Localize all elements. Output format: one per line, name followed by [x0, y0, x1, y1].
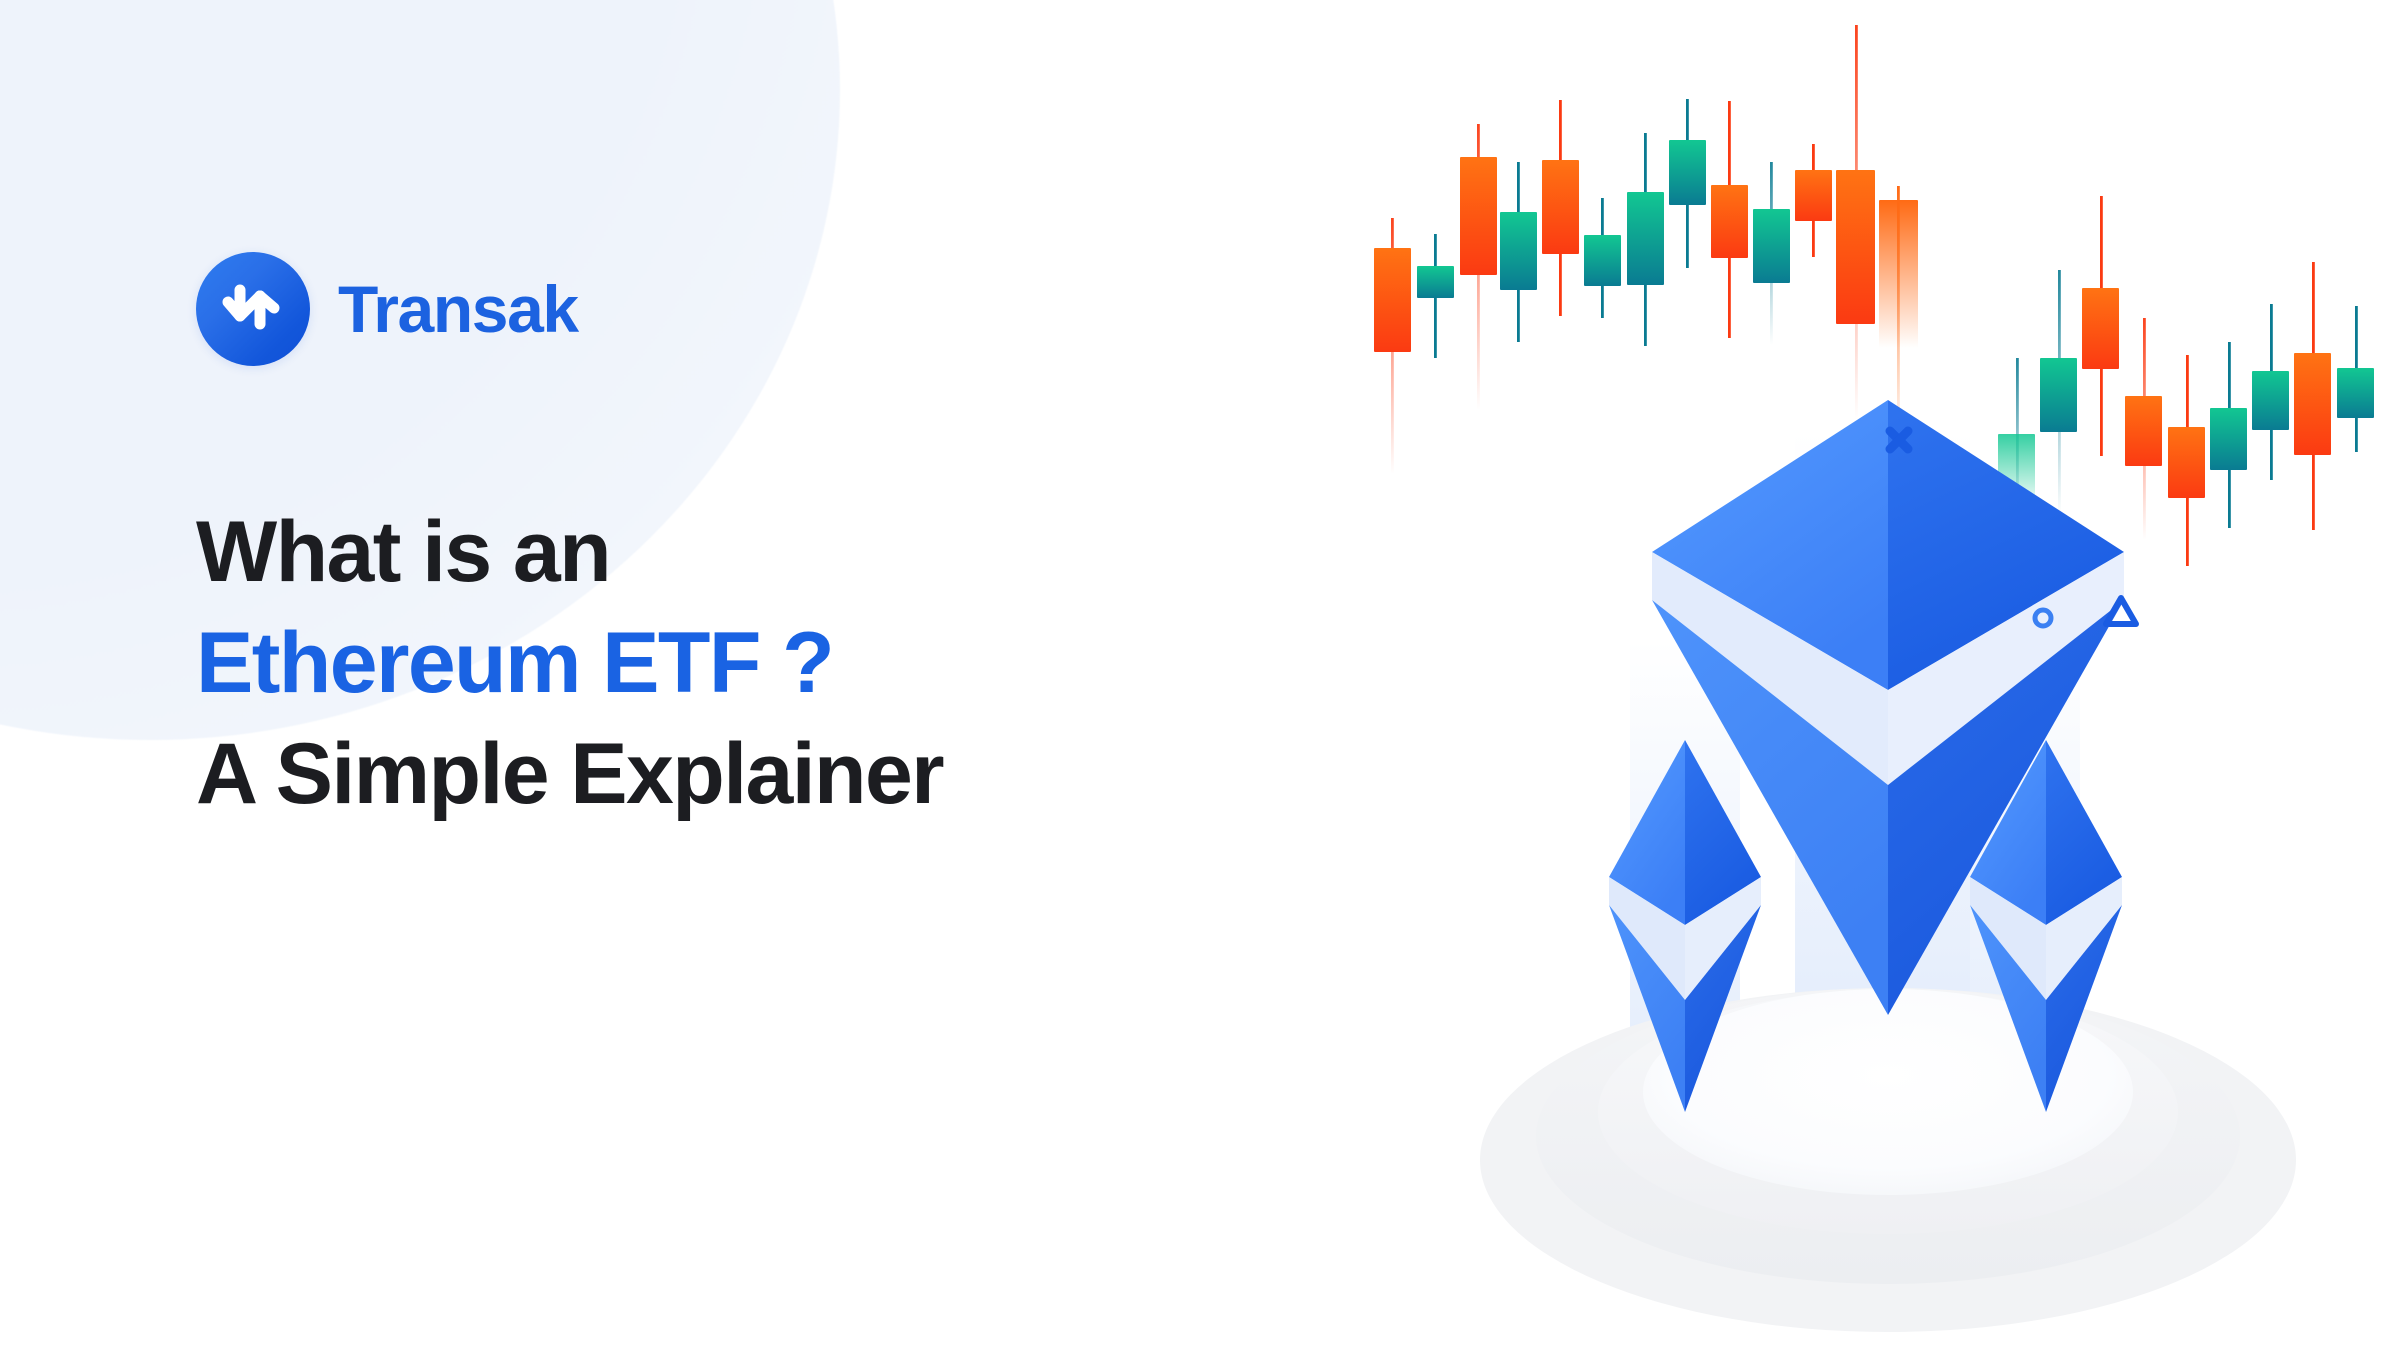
candlestick-cluster-left [1374, 25, 1918, 474]
brand-lockup[interactable]: Transak [196, 252, 578, 366]
hero-banner: Transak What is an Ethereum ETF ? A Simp… [0, 0, 2400, 1350]
marker-triangle-group-2 [2106, 598, 2136, 830]
cross-marker [1890, 431, 1908, 449]
podium-rings [1480, 988, 2296, 1332]
page-title: What is an Ethereum ETF ? A Simple Expla… [196, 497, 943, 830]
brand-wordmark: Transak [338, 276, 578, 342]
headline-line-3: A Simple Explainer [196, 719, 943, 830]
transak-zigzag-arrow-icon [196, 252, 310, 366]
left-content: Transak What is an Ethereum ETF ? A Simp… [196, 0, 1296, 1350]
ethereum-etf-candlestick-illustration [1330, 0, 2400, 1350]
headline-line-2: Ethereum ETF ? [196, 608, 943, 719]
headline-line-1: What is an [196, 497, 943, 608]
